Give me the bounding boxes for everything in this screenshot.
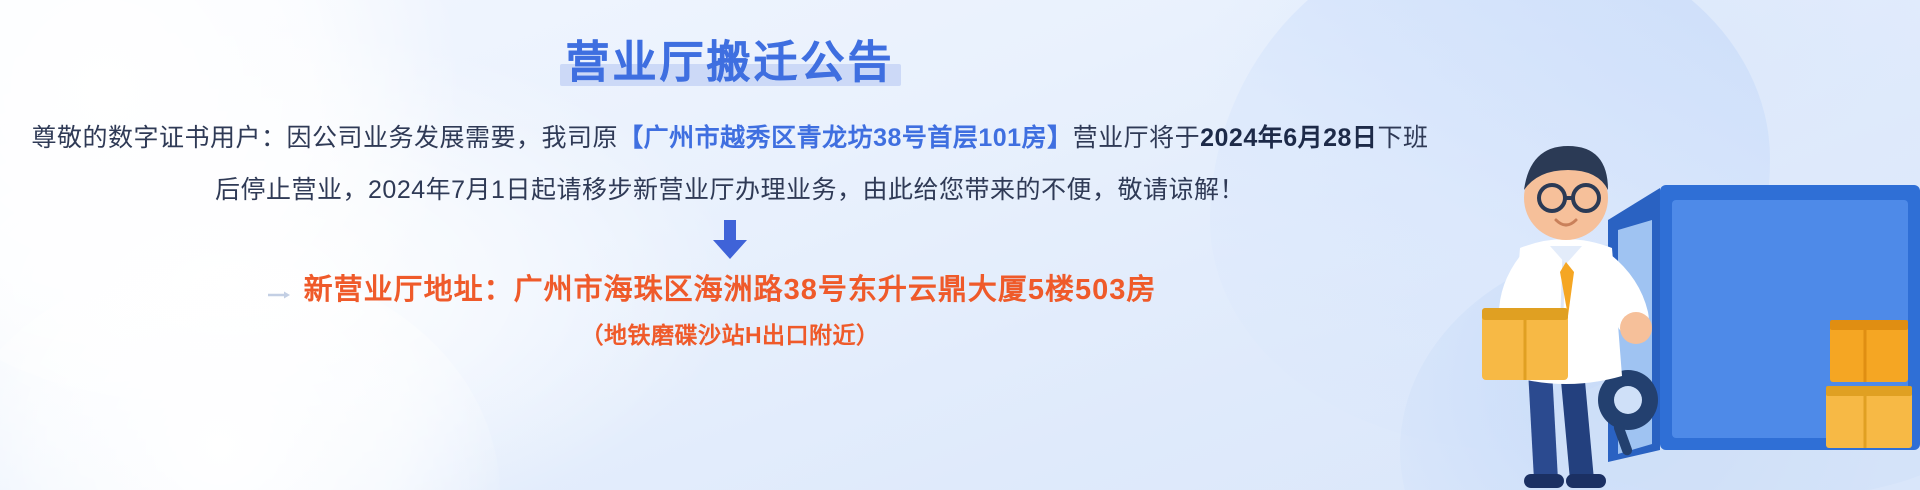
arrow-row xyxy=(709,220,751,260)
paragraph-line1-prefix: 尊敬的数字证书用户：因公司业务发展需要，我司原 xyxy=(32,124,619,152)
closing-date-bold: 2024年6月28日 xyxy=(1200,124,1377,152)
arrow-down-icon xyxy=(709,220,751,260)
moving-truck-illustration xyxy=(1360,70,1920,490)
new-address-note: （地铁磨碟沙站H出口附近） xyxy=(580,316,879,350)
old-address-highlight: 【广州市越秀区青龙坊38号首层101房】 xyxy=(618,124,1073,152)
page-title: 营业厅搬迁公告 xyxy=(566,26,895,90)
announcement-paragraph: 尊敬的数字证书用户：因公司业务发展需要，我司原【广州市越秀区青龙坊38号首层10… xyxy=(20,112,1440,216)
page-title-wrap: 营业厅搬迁公告 xyxy=(566,26,895,90)
paragraph-line1-suffix: 营业厅将于 xyxy=(1073,124,1201,152)
new-address: 新营业厅地址：广州市海珠区海洲路38号东升云鼎大厦5楼503房 xyxy=(304,266,1157,308)
announcement-content: 营业厅搬迁公告 尊敬的数字证书用户：因公司业务发展需要，我司原【广州市越秀区青龙… xyxy=(0,0,1460,490)
announcement-banner: 营业厅搬迁公告 尊敬的数字证书用户：因公司业务发展需要，我司原【广州市越秀区青龙… xyxy=(0,0,1920,490)
